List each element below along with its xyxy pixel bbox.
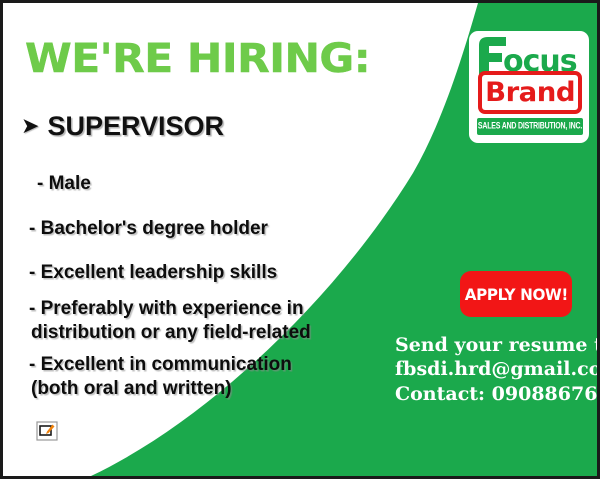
contact-block: Send your resume to: fbsdi.hrd@gmail.com… — [395, 333, 600, 406]
logo-tagline-bar: SALES AND DISTRIBUTION, INC. — [477, 118, 583, 135]
requirement-item: - Excellent leadership skills — [29, 262, 359, 284]
requirement-item: (both oral and written) — [31, 378, 359, 400]
requirement-item: distribution or any field-related — [31, 322, 359, 344]
requirement-item: - Preferably with experience in — [29, 298, 359, 320]
logo-brand-box: Brand — [478, 71, 582, 114]
requirement-item: - Excellent in communication — [29, 354, 359, 376]
position-row: ➤ SUPERVISOR — [21, 113, 224, 140]
contact-phone[interactable]: Contact: 09088676190 — [395, 382, 600, 406]
send-resume-label: Send your resume to: — [395, 333, 600, 357]
logo-brand-wordmark: Brand — [485, 79, 575, 106]
requirement-item: - Bachelor's degree holder — [29, 218, 359, 240]
apply-now-button[interactable]: APPLY NOW! — [460, 271, 572, 317]
company-logo: ocus Brand SALES AND DISTRIBUTION, INC. — [469, 31, 589, 143]
hiring-poster: WE'RE HIRING: ➤ SUPERVISOR - Male - Bach… — [0, 0, 600, 479]
requirements-list: - Male - Bachelor's degree holder - Exce… — [29, 173, 359, 400]
position-title: SUPERVISOR — [47, 113, 224, 140]
contact-email[interactable]: fbsdi.hrd@gmail.com — [395, 357, 600, 381]
logo-tagline-text: SALES AND DISTRIBUTION, INC. — [478, 122, 582, 131]
arrow-bullet-icon: ➤ — [21, 116, 39, 138]
requirement-item: - Male — [37, 173, 359, 195]
apply-now-label: APPLY NOW! — [464, 285, 567, 304]
edit-note-icon — [36, 421, 58, 441]
page-title: WE'RE HIRING: — [25, 39, 370, 79]
